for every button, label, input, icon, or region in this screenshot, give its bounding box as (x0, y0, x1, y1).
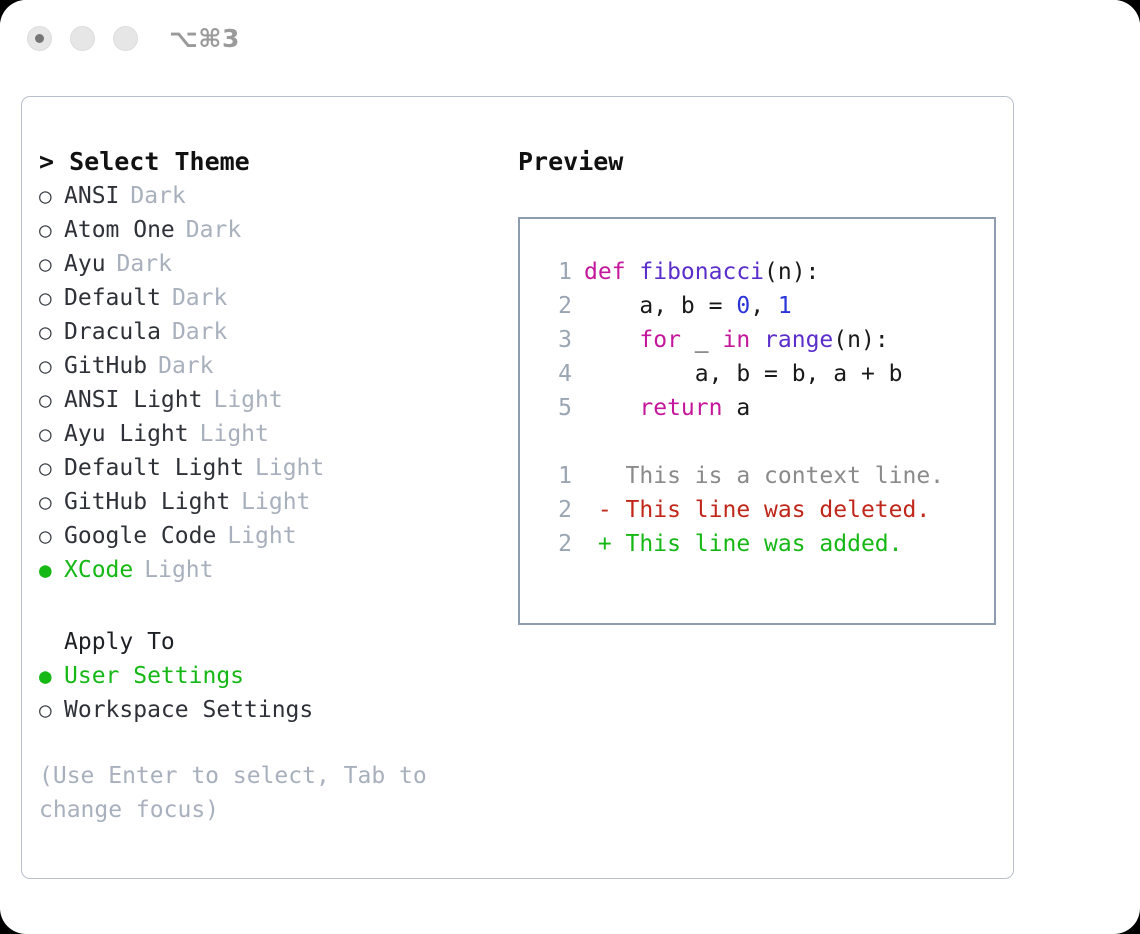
theme-list-item[interactable]: ○DraculaDark (39, 315, 501, 349)
code-token-pl: _ (681, 327, 723, 353)
theme-list-item[interactable]: ○Ayu LightLight (39, 417, 501, 451)
code-token-pl: , (750, 293, 778, 319)
preview-box: 1def fibonacci(n):2 a, b = 0, 13 for _ i… (518, 217, 996, 625)
apply-to-name: Workspace Settings (64, 693, 313, 727)
preview-title: Preview (518, 145, 997, 179)
apply-to-item[interactable]: ○Workspace Settings (39, 693, 501, 727)
theme-variant-tag: Dark (172, 315, 227, 349)
apply-to-item[interactable]: ●User Settings (39, 659, 501, 693)
select-theme-header: > Select Theme (39, 145, 501, 179)
radio-unselected-icon[interactable]: ○ (39, 519, 64, 553)
theme-variant-tag: Light (241, 485, 310, 519)
theme-list-item[interactable]: ○ANSI LightLight (39, 383, 501, 417)
title-bar: ⌥⌘3 (0, 0, 1140, 76)
radio-selected-icon[interactable]: ● (39, 659, 64, 693)
radio-selected-icon[interactable]: ● (39, 553, 64, 587)
diff-line: 1 This is a context line. (538, 459, 994, 493)
code-token-fn: fibonacci (639, 259, 764, 285)
theme-list-item[interactable]: ●XCodeLight (39, 553, 501, 587)
apply-to-name: User Settings (64, 659, 244, 693)
code-token-kw: def (584, 259, 639, 285)
code-line-number: 3 (538, 323, 572, 357)
theme-name: Ayu Light (64, 417, 189, 451)
code-line-text: a, b = 0, 1 (584, 289, 792, 323)
diff-line-text: This is a context line. (584, 459, 944, 493)
code-line: 1def fibonacci(n): (538, 255, 994, 289)
radio-unselected-icon[interactable]: ○ (39, 213, 64, 247)
theme-name: ANSI (64, 179, 119, 213)
theme-variant-tag: Dark (158, 349, 213, 383)
theme-list-item[interactable]: ○GitHubDark (39, 349, 501, 383)
window-controls (27, 26, 138, 51)
theme-list-item[interactable]: ○Google CodeLight (39, 519, 501, 553)
theme-list-item[interactable]: ○ANSIDark (39, 179, 501, 213)
radio-unselected-icon[interactable]: ○ (39, 281, 64, 315)
code-token-num: 0 (736, 293, 750, 319)
code-token-pl: a (722, 395, 750, 421)
main-panel: > Select Theme ○ANSIDark○Atom OneDark○Ay… (21, 96, 1014, 879)
code-line-text: for _ in range(n): (584, 323, 889, 357)
diff-preview: 1 This is a context line.2 - This line w… (538, 459, 994, 561)
code-token-fn: range (764, 327, 833, 353)
radio-unselected-icon[interactable]: ○ (39, 417, 64, 451)
code-line-number: 4 (538, 357, 572, 391)
code-token-kw: return (639, 395, 722, 421)
radio-unselected-icon[interactable]: ○ (39, 315, 64, 349)
radio-unselected-icon[interactable]: ○ (39, 485, 64, 519)
code-token-pl (584, 395, 639, 421)
theme-list-item[interactable]: ○GitHub LightLight (39, 485, 501, 519)
code-diff-spacer (538, 425, 994, 459)
code-line: 5 return a (538, 391, 994, 425)
code-token-num: 1 (778, 293, 792, 319)
diff-line: 2 - This line was deleted. (538, 493, 994, 527)
code-line-number: 1 (538, 255, 572, 289)
theme-list[interactable]: ○ANSIDark○Atom OneDark○AyuDark○DefaultDa… (39, 179, 501, 587)
theme-variant-tag: Light (144, 553, 213, 587)
code-line: 2 a, b = 0, 1 (538, 289, 994, 323)
theme-name: XCode (64, 553, 133, 587)
code-line-text: return a (584, 391, 750, 425)
radio-unselected-icon[interactable]: ○ (39, 247, 64, 281)
theme-variant-tag: Light (213, 383, 282, 417)
theme-name: Atom One (64, 213, 175, 247)
apply-to-label: Apply To (39, 625, 501, 659)
code-line-text: a, b = b, a + b (584, 357, 903, 391)
theme-name: Dracula (64, 315, 161, 349)
diff-line-number: 2 (538, 493, 572, 527)
window-dot-close[interactable] (27, 26, 52, 51)
code-line-text: def fibonacci(n): (584, 255, 819, 289)
diff-line-number: 1 (538, 459, 572, 493)
code-line-number: 5 (538, 391, 572, 425)
code-token-pl: (n): (833, 327, 888, 353)
code-token-pl (584, 327, 639, 353)
code-token-kw: for (639, 327, 681, 353)
panel-content: > Select Theme ○ANSIDark○Atom OneDark○Ay… (39, 145, 997, 865)
theme-name: ANSI Light (64, 383, 202, 417)
theme-list-item[interactable]: ○DefaultDark (39, 281, 501, 315)
theme-list-item[interactable]: ○Atom OneDark (39, 213, 501, 247)
theme-name: Default (64, 281, 161, 315)
theme-name: Ayu (64, 247, 106, 281)
diff-line-text: - This line was deleted. (584, 493, 930, 527)
radio-unselected-icon[interactable]: ○ (39, 383, 64, 417)
theme-list-item[interactable]: ○Default LightLight (39, 451, 501, 485)
keyboard-shortcut-label: ⌥⌘3 (169, 24, 240, 53)
theme-variant-tag: Light (255, 451, 324, 485)
theme-variant-tag: Light (227, 519, 296, 553)
theme-variant-tag: Dark (130, 179, 185, 213)
app-window: ⌥⌘3 > Select Theme ○ANSIDark○Atom OneDar… (0, 0, 1140, 934)
window-dot-maximize[interactable] (113, 26, 138, 51)
code-token-pl: a, b = b, a + b (584, 361, 903, 387)
window-dot-inner (35, 34, 44, 43)
radio-unselected-icon[interactable]: ○ (39, 349, 64, 383)
theme-variant-tag: Dark (172, 281, 227, 315)
code-preview: 1def fibonacci(n):2 a, b = 0, 13 for _ i… (538, 255, 994, 425)
apply-to-list[interactable]: ●User Settings○Workspace Settings (39, 659, 501, 727)
theme-variant-tag: Dark (186, 213, 241, 247)
section-spacer (39, 587, 501, 625)
code-line: 4 a, b = b, a + b (538, 357, 994, 391)
window-dot-minimize[interactable] (70, 26, 95, 51)
theme-selector-column: > Select Theme ○ANSIDark○Atom OneDark○Ay… (39, 145, 501, 827)
theme-name: Google Code (64, 519, 216, 553)
diff-line-text: + This line was added. (584, 527, 903, 561)
theme-list-item[interactable]: ○AyuDark (39, 247, 501, 281)
radio-unselected-icon[interactable]: ○ (39, 451, 64, 485)
theme-name: GitHub (64, 349, 147, 383)
radio-unselected-icon[interactable]: ○ (39, 693, 64, 727)
help-text: (Use Enter to select, Tab to change focu… (39, 759, 459, 827)
code-line-number: 2 (538, 289, 572, 323)
code-token-pl: (n): (764, 259, 819, 285)
theme-name: GitHub Light (64, 485, 230, 519)
preview-column: Preview 1def fibonacci(n):2 a, b = 0, 13… (518, 145, 997, 625)
diff-line-number: 2 (538, 527, 572, 561)
code-token-pl: a, b = (584, 293, 736, 319)
code-token-kw: in (722, 327, 750, 353)
diff-line: 2 + This line was added. (538, 527, 994, 561)
theme-name: Default Light (64, 451, 244, 485)
code-token-pl (750, 327, 764, 353)
theme-variant-tag: Light (200, 417, 269, 451)
code-line: 3 for _ in range(n): (538, 323, 994, 357)
radio-unselected-icon[interactable]: ○ (39, 179, 64, 213)
theme-variant-tag: Dark (117, 247, 172, 281)
